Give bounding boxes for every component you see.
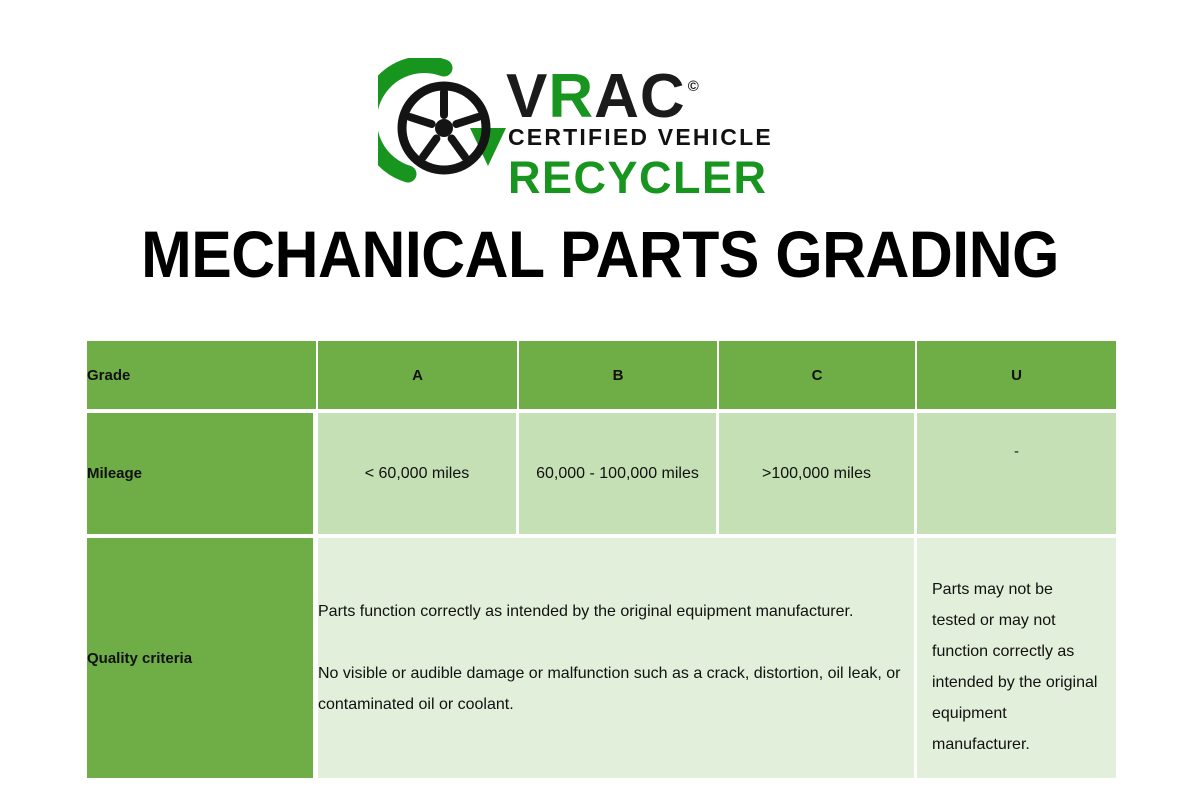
row-label-quality-criteria: Quality criteria (87, 538, 318, 778)
header-cell-grade: Grade (87, 341, 318, 409)
quality-criteria-cell-abc: Parts function correctly as intended by … (318, 538, 917, 778)
mileage-cell-a: < 60,000 miles (318, 413, 519, 534)
copyright-icon: © (688, 78, 700, 95)
table-header-row: Grade A B C U (87, 341, 1116, 409)
mileage-cell-u: - (917, 413, 1116, 534)
header-cell-b: B (519, 341, 719, 409)
brand-letters-ac: AC (594, 62, 686, 131)
brand-letter-v: V (506, 62, 548, 131)
brand-vrac: VRAC© (506, 54, 700, 130)
brand-recycler: RECYCLER (508, 152, 768, 204)
quality-criteria-paragraph-2: No visible or audible damage or malfunct… (318, 658, 914, 720)
brand-letter-r: R (548, 62, 594, 131)
header-cell-a: A (318, 341, 519, 409)
logo-wordmark: VRAC© CERTIFIED VEHICLE RECYCLER (506, 52, 838, 204)
quality-criteria-paragraph-1: Parts function correctly as intended by … (318, 596, 914, 627)
logo-tagline: CERTIFIED VEHICLE (508, 124, 773, 151)
page-title: MECHANICAL PARTS GRADING (48, 218, 1152, 290)
row-label-mileage: Mileage (87, 413, 318, 534)
mechanical-parts-grading-table: Grade A B C U Mileage < 60,000 miles 60,… (87, 341, 1116, 778)
recycling-wheel-icon (378, 58, 510, 190)
header-cell-u: U (917, 341, 1116, 409)
grading-poster: VRAC© CERTIFIED VEHICLE RECYCLER MECHANI… (0, 0, 1200, 800)
quality-criteria-cell-u: Parts may not be tested or may not funct… (917, 538, 1116, 778)
vrac-logo: VRAC© CERTIFIED VEHICLE RECYCLER (378, 52, 838, 204)
table-row-quality-criteria: Quality criteria Parts function correctl… (87, 538, 1116, 778)
mileage-cell-c: >100,000 miles (719, 413, 917, 534)
mileage-cell-b: 60,000 - 100,000 miles (519, 413, 719, 534)
table-row-mileage: Mileage < 60,000 miles 60,000 - 100,000 … (87, 413, 1116, 534)
header-cell-c: C (719, 341, 917, 409)
